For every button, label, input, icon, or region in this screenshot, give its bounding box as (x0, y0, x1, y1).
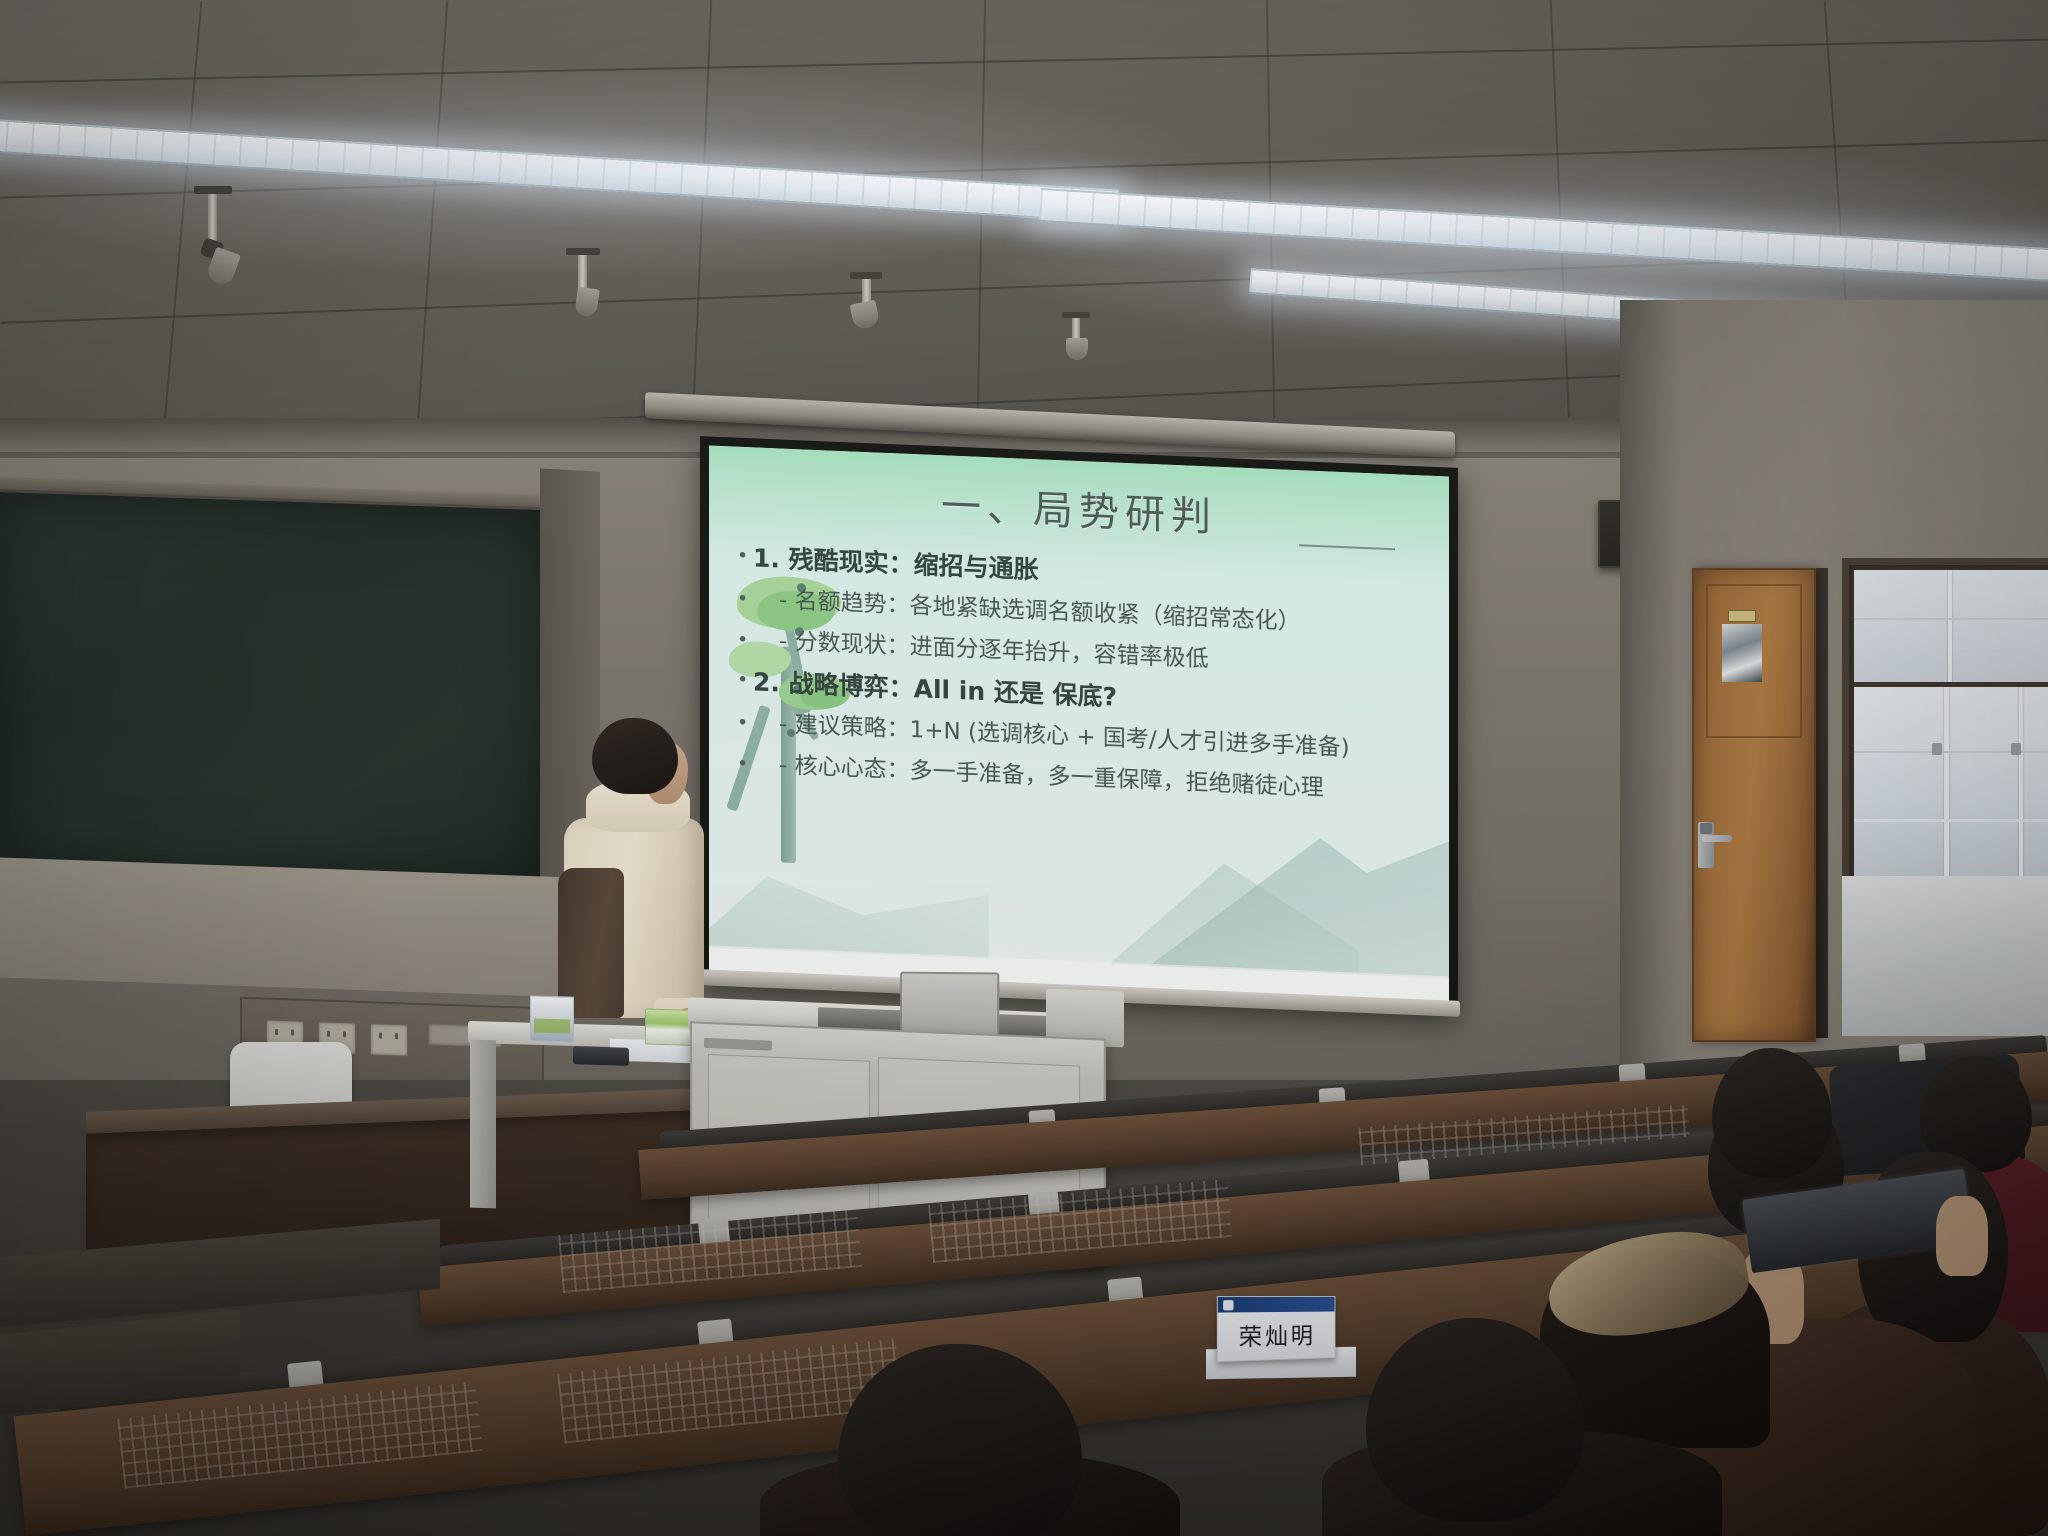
window-latch[interactable] (1932, 743, 1942, 755)
window-glass-upper (1854, 570, 2048, 682)
bullet-marker: • (737, 667, 753, 693)
student-hand-2 (1936, 1196, 1988, 1276)
door-notice-poster (1722, 624, 1762, 682)
tissue-box-label (534, 1018, 570, 1033)
bullet-marker: • (737, 626, 753, 652)
bullet-marker: • (737, 710, 753, 736)
slide-bullet-list: • 1. 残酷现实：缩招与通胀 • - 名额趋势：各地紧缺选调名额收紧（缩招常态… (737, 543, 1431, 820)
window-sill-wall (1842, 876, 2048, 1036)
placard-name: 荣灿明 (1218, 1316, 1335, 1352)
projection-screen: 一、局势研判 • 1. 残酷现实：缩招与通胀 • - 名额趋势：各地紧缺选调名额… (700, 436, 1458, 1014)
phone[interactable] (573, 1046, 629, 1066)
blackboard (0, 489, 549, 896)
bullet-marker: • (737, 586, 753, 612)
door[interactable] (1692, 568, 1816, 1042)
lecture-hall-photo: 一、局势研判 • 1. 残酷现实：缩招与通胀 • - 名额趋势：各地紧缺选调名额… (0, 0, 2048, 1536)
room-number-sign (1728, 610, 1756, 622)
presenter-hair (592, 718, 678, 794)
student-head (1712, 1048, 1832, 1178)
slide-title: 一、局势研判 (709, 463, 1449, 552)
tissue-box[interactable] (530, 995, 574, 1042)
window-latch-2[interactable] (2011, 743, 2021, 755)
window-glass-lower (1854, 687, 2048, 878)
placard-header-band (1218, 1297, 1335, 1313)
bullet-marker: • (737, 543, 753, 569)
bullet-marker: • (737, 750, 753, 776)
name-placard: 荣灿明 (1217, 1296, 1336, 1362)
lectern-leg-left (470, 1040, 496, 1209)
right-wall-shadow (1620, 300, 1680, 1080)
door-handle[interactable] (1702, 835, 1732, 842)
cabinet-badge (704, 1038, 772, 1051)
university-logo-icon (1223, 1300, 1233, 1310)
presentation-slide: 一、局势研判 • 1. 残酷现实：缩招与通胀 • - 名额趋势：各地紧缺选调名额… (709, 445, 1449, 1004)
screen-surface: 一、局势研判 • 1. 残酷现实：缩招与通胀 • - 名额趋势：各地紧缺选调名额… (709, 445, 1449, 1004)
wall-wainscot (0, 858, 600, 999)
window (1842, 558, 2048, 890)
ceiling-light-strip-2 (1039, 188, 2048, 285)
lock-icon[interactable] (1700, 823, 1712, 834)
